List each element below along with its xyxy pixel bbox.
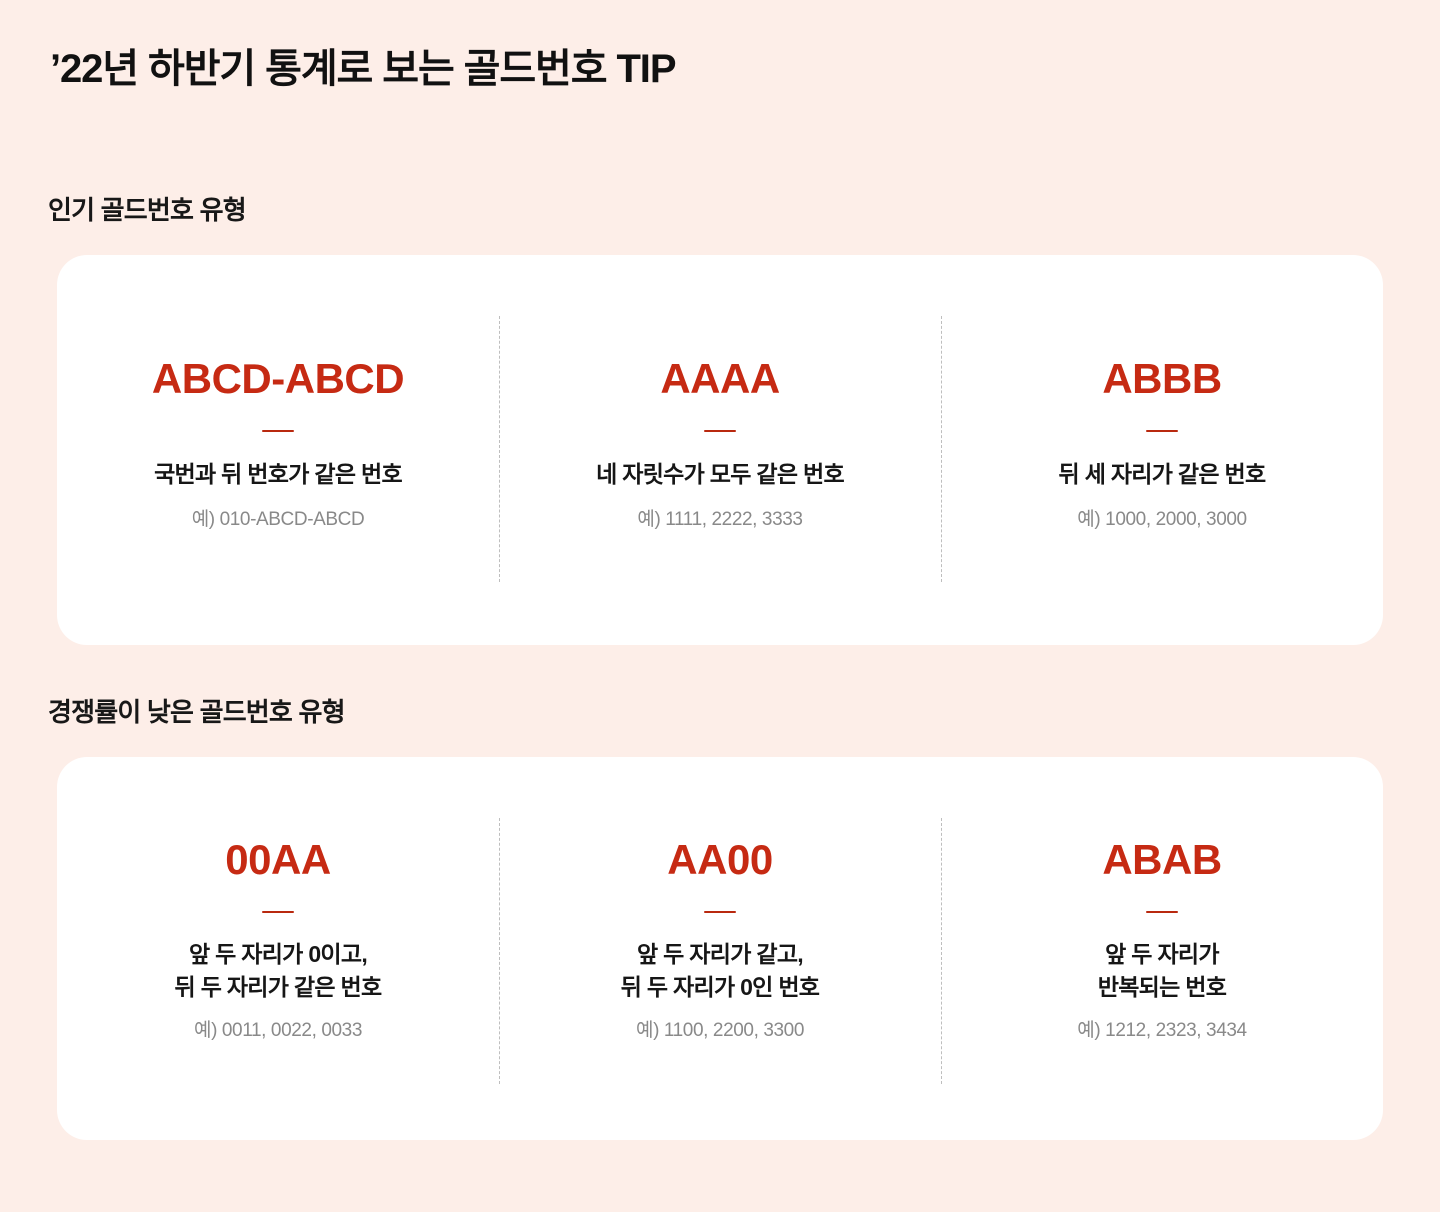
type-column-abcd-abcd: ABCD-ABCD 국번과 뒤 번호가 같은 번호 예) 010-ABCD-AB… (57, 255, 499, 645)
pattern-description: 국번과 뒤 번호가 같은 번호 (154, 458, 402, 491)
pattern-description: 뒤 세 자리가 같은 번호 (1059, 458, 1266, 491)
pattern-description: 앞 두 자리가 0이고, 뒤 두 자리가 같은 번호 (175, 938, 382, 1003)
type-column-abab: ABAB 앞 두 자리가 반복되는 번호 예) 1212, 2323, 3434 (941, 757, 1383, 1140)
pattern-example: 예) 1212, 2323, 3434 (1077, 1015, 1246, 1042)
accent-rule (262, 911, 294, 913)
pattern-label: 00AA (225, 839, 330, 881)
type-column-aa00: AA00 앞 두 자리가 같고, 뒤 두 자리가 0인 번호 예) 1100, … (499, 757, 941, 1140)
pattern-description: 네 자릿수가 모두 같은 번호 (596, 458, 844, 491)
pattern-label: AA00 (667, 839, 772, 881)
accent-rule (262, 430, 294, 432)
pattern-example: 예) 010-ABCD-ABCD (192, 504, 365, 531)
accent-rule (1146, 430, 1178, 432)
pattern-example: 예) 0011, 0022, 0033 (194, 1015, 362, 1042)
type-column-00aa: 00AA 앞 두 자리가 0이고, 뒤 두 자리가 같은 번호 예) 0011,… (57, 757, 499, 1140)
section-heading-low-competition: 경쟁률이 낮은 골드번호 유형 (48, 692, 345, 729)
pattern-label: ABBB (1102, 358, 1221, 400)
accent-rule (704, 911, 736, 913)
pattern-label: AAAA (660, 358, 779, 400)
pattern-label: ABAB (1102, 839, 1221, 881)
pattern-description: 앞 두 자리가 반복되는 번호 (1098, 938, 1226, 1003)
type-column-aaaa: AAAA 네 자릿수가 모두 같은 번호 예) 1111, 2222, 3333 (499, 255, 941, 645)
pattern-example: 예) 1100, 2200, 3300 (636, 1015, 804, 1042)
accent-rule (1146, 911, 1178, 913)
type-column-abbb: ABBB 뒤 세 자리가 같은 번호 예) 1000, 2000, 3000 (941, 255, 1383, 645)
infographic-page: ’22년 하반기 통계로 보는 골드번호 TIP 인기 골드번호 유형 ABCD… (0, 0, 1440, 1212)
section-heading-popular: 인기 골드번호 유형 (48, 190, 246, 227)
accent-rule (704, 430, 736, 432)
pattern-example: 예) 1000, 2000, 3000 (1077, 504, 1246, 531)
pattern-description: 앞 두 자리가 같고, 뒤 두 자리가 0인 번호 (621, 938, 820, 1003)
pattern-example: 예) 1111, 2222, 3333 (637, 504, 802, 531)
page-title: ’22년 하반기 통계로 보는 골드번호 TIP (50, 36, 675, 94)
card-popular-types: ABCD-ABCD 국번과 뒤 번호가 같은 번호 예) 010-ABCD-AB… (57, 255, 1383, 645)
pattern-label: ABCD-ABCD (152, 358, 404, 400)
card-low-competition-types: 00AA 앞 두 자리가 0이고, 뒤 두 자리가 같은 번호 예) 0011,… (57, 757, 1383, 1140)
